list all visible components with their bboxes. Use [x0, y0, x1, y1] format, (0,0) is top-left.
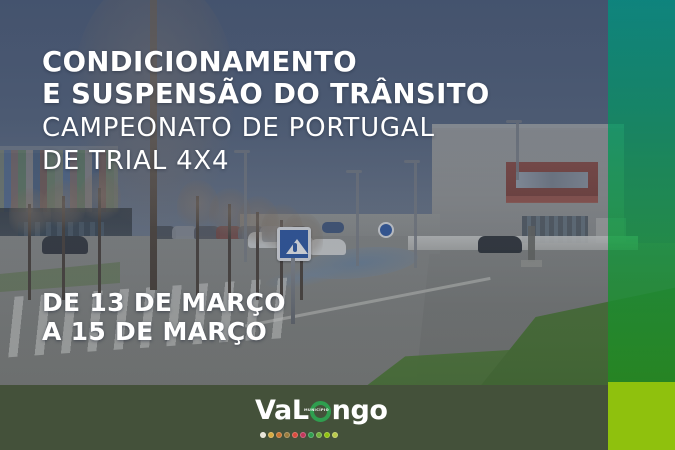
logo-dot-9 [332, 432, 338, 438]
headline-line-2: E SUSPENSÃO DO TRÂNSITO [42, 78, 562, 110]
logo-dot-5 [300, 432, 306, 438]
logo-dot-8 [324, 432, 330, 438]
logo-dot-3 [284, 432, 290, 438]
dates-block: DE 13 DE MARÇO A 15 DE MARÇO [42, 288, 286, 346]
logo-dot-7 [316, 432, 322, 438]
poster: CONDICIONAMENTO E SUSPENSÃO DO TRÂNSITO … [0, 0, 675, 450]
headline-block: CONDICIONAMENTO E SUSPENSÃO DO TRÂNSITO … [42, 46, 562, 176]
headline-line-1: CONDICIONAMENTO [42, 46, 562, 78]
green-gradient-panel-overlay [608, 0, 675, 382]
logo-dot-0 [260, 432, 266, 438]
logo-dot-6 [308, 432, 314, 438]
logo-text-pre: VaL [255, 395, 309, 426]
logo-dot-2 [276, 432, 282, 438]
logo-wordmark: VaLngo MUNICÍPIO [255, 396, 383, 426]
logo-dot-4 [292, 432, 298, 438]
subhead-line-2: DE TRIAL 4X4 [42, 146, 562, 176]
logo-tagline: MUNICÍPIO [304, 395, 329, 425]
date-line-2: A 15 DE MARÇO [42, 317, 286, 346]
date-line-1: DE 13 DE MARÇO [42, 288, 286, 317]
lime-color-block [608, 382, 675, 450]
logo-text-post: ngo [332, 395, 388, 426]
logo-dot-1 [268, 432, 274, 438]
logo-dot-row [260, 432, 338, 438]
valongo-logo: VaLngo MUNICÍPIO [255, 396, 383, 438]
subhead-line-1: CAMPEONATO DE PORTUGAL [42, 113, 562, 143]
